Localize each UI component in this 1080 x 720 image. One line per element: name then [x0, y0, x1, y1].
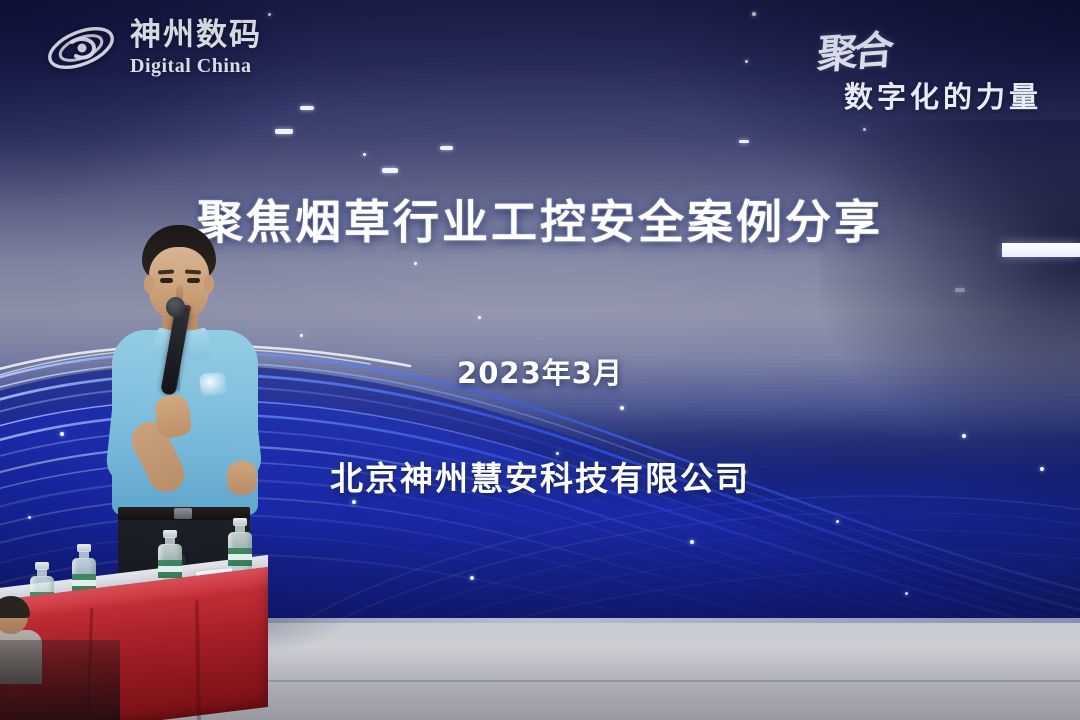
swirl-icon	[44, 18, 118, 78]
bottle-label-stripe	[158, 566, 182, 572]
presenter-eye	[160, 278, 173, 283]
presenter-ear	[204, 275, 214, 293]
digital-china-logo: 神州数码 Digital China	[44, 18, 262, 78]
foreground-shadow	[0, 640, 120, 720]
event-theme-logo: 聚合 数字化的力量	[796, 16, 1056, 116]
logo-name-cn: 神州数码	[130, 20, 262, 51]
belt-buckle	[174, 508, 192, 519]
conference-stage-photo: 神州数码 Digital China 聚合 数字化的力量 聚焦烟草行业工控安全案…	[0, 0, 1080, 720]
bottle-label-stripe	[72, 580, 96, 586]
logo-wordmark: 神州数码 Digital China	[130, 20, 262, 76]
theme-tagline: 数字化的力量	[844, 74, 1042, 116]
bottle-label-stripe	[228, 554, 252, 560]
presenter-ear	[144, 275, 154, 293]
theme-calligraphy: 聚合	[816, 18, 893, 81]
backdrop-accent-bar	[1002, 243, 1080, 257]
logo-name-en: Digital China	[130, 56, 262, 76]
attendee-hair	[0, 596, 30, 618]
presenter-eye	[187, 278, 200, 283]
polo-chest-logo	[199, 372, 227, 397]
presenter-hand-holding-clicker	[227, 461, 257, 495]
